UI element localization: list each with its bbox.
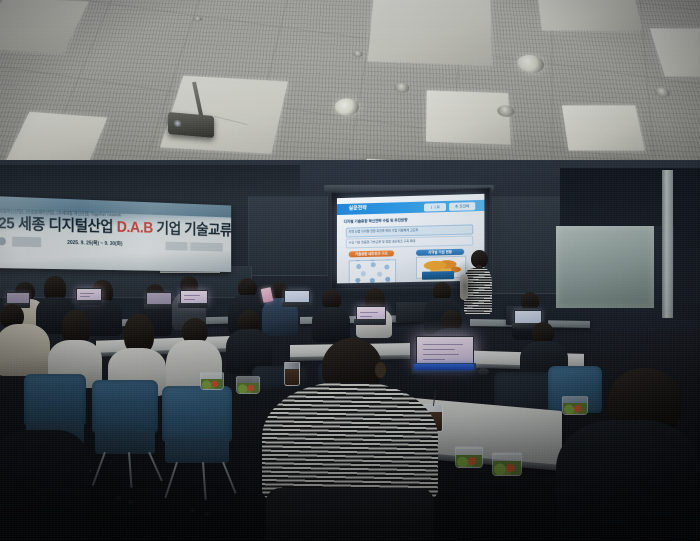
seminar-room-photo: (디지털혁신산업), (소프트웨어산업), (차세대형 혁신산업) Togeth… [0,0,700,541]
office-chair[interactable] [92,380,158,466]
laptop [284,290,308,307]
chair-seat [165,438,229,463]
salad-contents [237,383,259,393]
presenter-shadow [452,260,478,312]
right-wall-dark [674,170,700,320]
bowl-lid [492,452,522,455]
salad-contents [201,379,223,389]
banner-title-suffix: 기업 기술교류회 [156,221,231,240]
slide-map-badge [422,271,454,280]
laptop [76,288,100,305]
torso [312,307,350,342]
ceiling-light-panel [426,90,511,144]
chair-backrest [92,380,158,433]
ear [375,362,386,378]
slide-bullet-heading: 디지털 기술융합 혁신전략 수립 및 추진방향 [344,218,408,225]
sprinkler-head [497,105,515,117]
banner-title-prefix: 025 [0,215,14,233]
torso [556,420,700,541]
sprinkler-head [353,51,363,57]
banner-title-highlight: D.A.B [117,219,153,236]
chair-backrest [162,386,232,442]
event-banner: (디지털혁신산업), (소프트웨어산업), (차세대형 혁신산업) Togeth… [0,196,231,272]
slide-right-caption: 지역별 거점 현황 [416,249,464,256]
wall-post [662,170,673,318]
banner-logos-left [0,236,63,248]
salad-bowl[interactable] [236,376,260,394]
ceiling-light-panel [537,0,642,30]
computer-mouse[interactable] [478,368,489,375]
laptop-base [354,319,386,325]
sprinkler-head [395,83,410,93]
banner-logos-right [166,242,223,252]
slide-header-title: 실문전략 [349,204,367,211]
foreground-attendee-dark [556,368,700,541]
laptop-base [74,300,102,305]
torso [0,324,50,376]
laptop-base [144,304,172,309]
banner-title-main: 세종 디지털산업 [18,216,113,236]
salad-contents [493,461,521,475]
wall-panel [492,196,566,294]
torso [0,430,90,541]
frosted-glass-partition [556,226,654,308]
salad-bowl[interactable] [200,372,224,390]
laptop [146,292,170,309]
projector-lens [173,119,182,127]
ceiling-light-panel [368,0,492,66]
recessed-downlight [334,99,359,116]
wall-panel [248,196,328,276]
torso [262,382,438,502]
attendee [0,304,52,376]
ceiling-light-panel [562,105,645,150]
laptop-base [178,303,208,308]
salad-bowl[interactable] [455,446,483,468]
slide-header-tab-2: 추 진전략 [449,202,475,211]
laptop-base [282,302,310,307]
banner-date: 2025. 9. 25(목) ~ 9. 30(화) [67,239,122,247]
foreground-attendee-striped [262,338,438,541]
salad-bowl[interactable] [492,452,522,476]
lower-body [266,488,434,541]
slide-left-caption: 기술융합 네트워크 구조 [349,250,394,257]
chair-backrest [24,374,86,426]
bowl-lid [455,446,483,449]
attendee [312,290,350,342]
chair-seat [95,430,156,454]
laptop [180,290,206,308]
slide-header-tab-1: ㅣㅣ요 [424,203,446,212]
slide-network-diagram [349,259,396,283]
laptop [356,306,384,325]
ceiling-projector [168,112,214,138]
salad-contents [456,455,482,467]
office-chair[interactable] [162,386,232,476]
foreground-attendee-left [0,430,90,541]
